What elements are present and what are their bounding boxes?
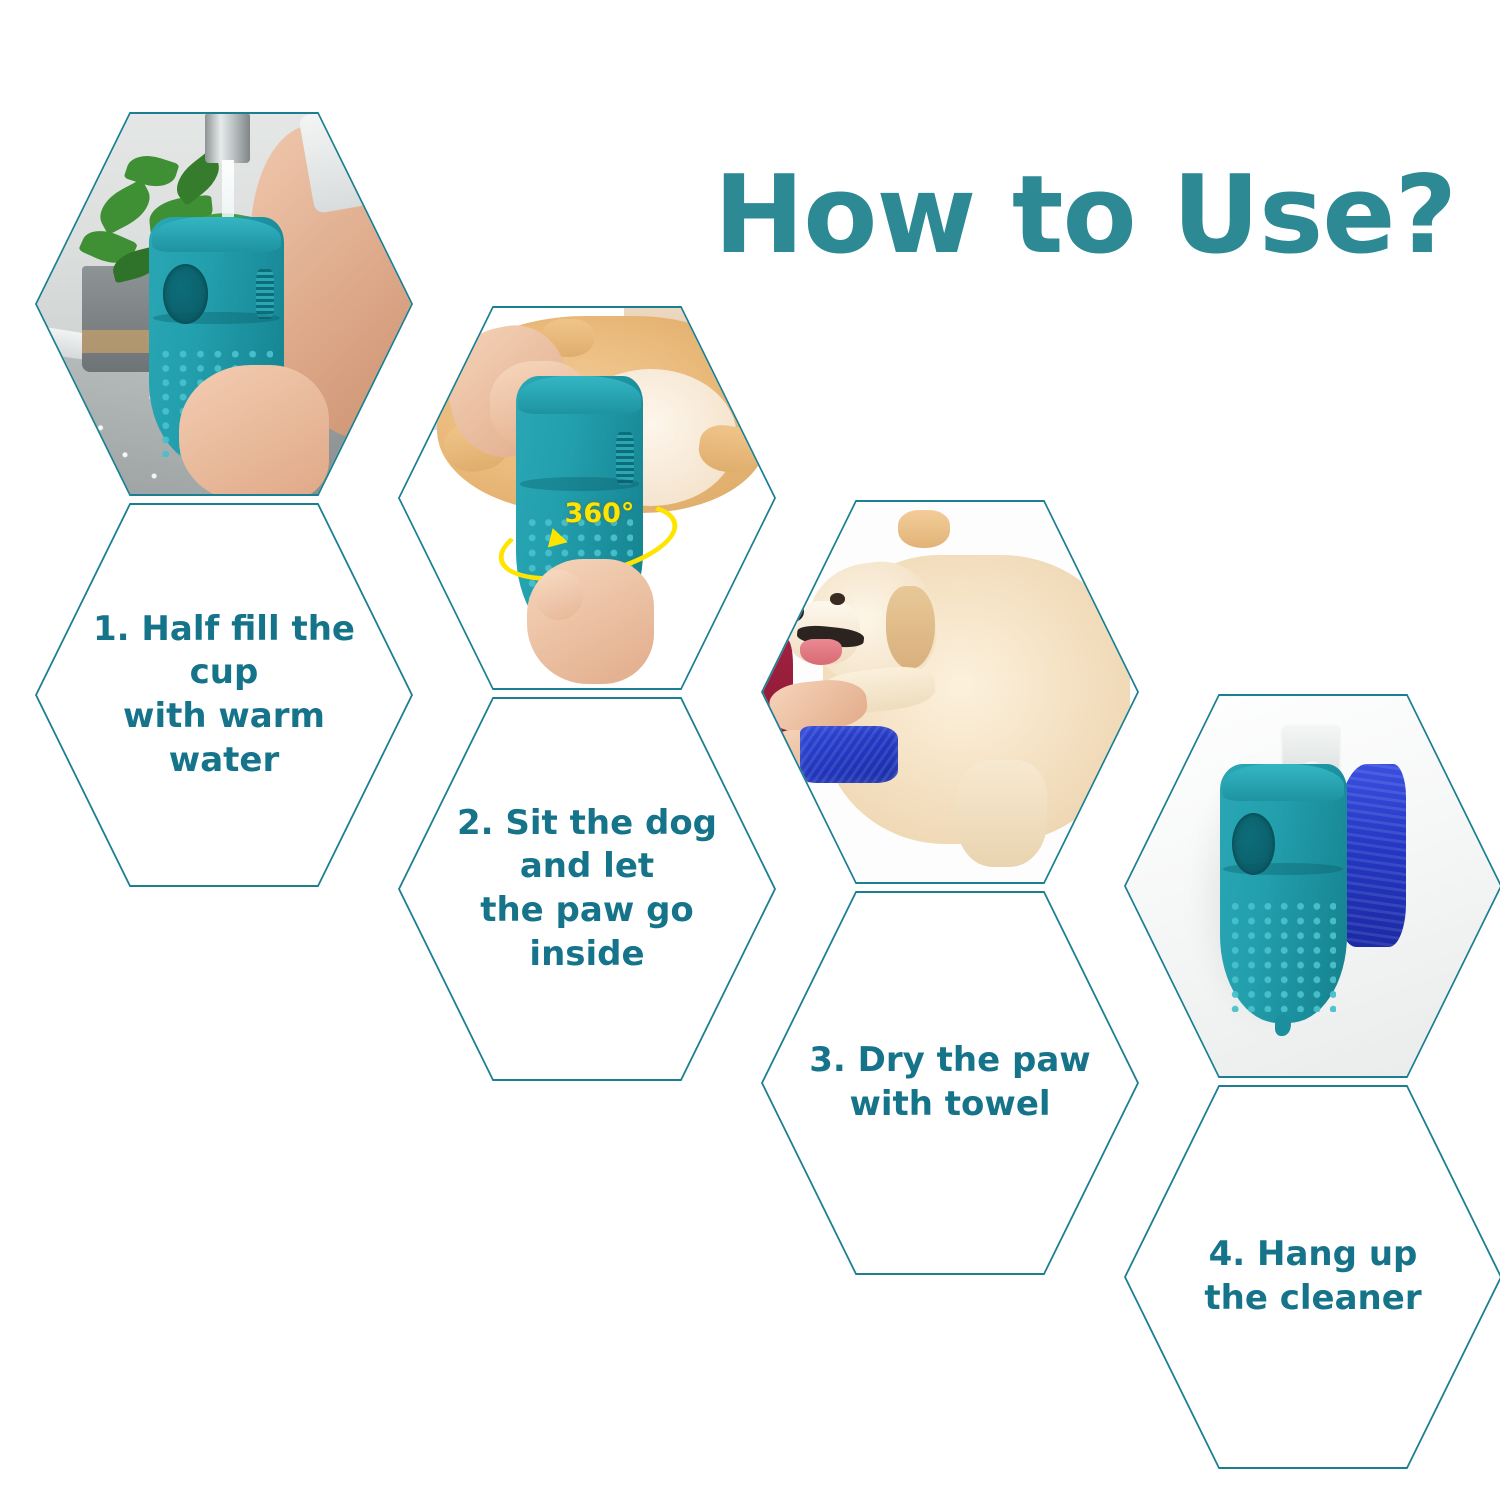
step-2-text-hexagon: 2. Sit the dog and let the paw go inside <box>398 697 776 1081</box>
step-3-text-hexagon: 3. Dry the paw with towel <box>761 891 1139 1275</box>
step-1-photo-hexagon <box>35 112 413 496</box>
page-title: How to Use? <box>700 140 1470 290</box>
infographic-canvas: How to Use? <box>0 0 1500 1500</box>
scene-fill-cup-under-faucet <box>37 114 411 494</box>
scene-paw-into-cup: 360° <box>400 308 774 688</box>
scene-dry-paw-with-towel <box>763 502 1137 882</box>
step-4-text-hexagon: 4. Hang up the cleaner <box>1124 1085 1500 1469</box>
faucet-icon <box>205 114 250 163</box>
step-4-photo-hexagon <box>1124 694 1500 1078</box>
dog-eye <box>830 593 845 604</box>
dog-nose <box>782 601 804 622</box>
step-1-label: 1. Half fill the cup with warm water <box>74 608 373 782</box>
hand-gripping-cup <box>179 365 329 494</box>
step-3-label: 3. Dry the paw with towel <box>800 1039 1099 1126</box>
sleeve <box>299 114 411 214</box>
blue-microfiber-towel <box>800 726 897 783</box>
step-1-text-hexagon: 1. Half fill the cup with warm water <box>35 503 413 887</box>
paw-cleaner-cup <box>1220 764 1347 1022</box>
step-2-label: 2. Sit the dog and let the paw go inside <box>437 802 736 976</box>
step-4-label: 4. Hang up the cleaner <box>1163 1233 1462 1320</box>
step-2-photo-hexagon: 360° <box>398 306 776 690</box>
scene-hang-up-cleaner <box>1126 696 1500 1076</box>
step-3-photo-hexagon <box>761 500 1139 884</box>
rotation-360-label: 360° <box>565 498 635 529</box>
